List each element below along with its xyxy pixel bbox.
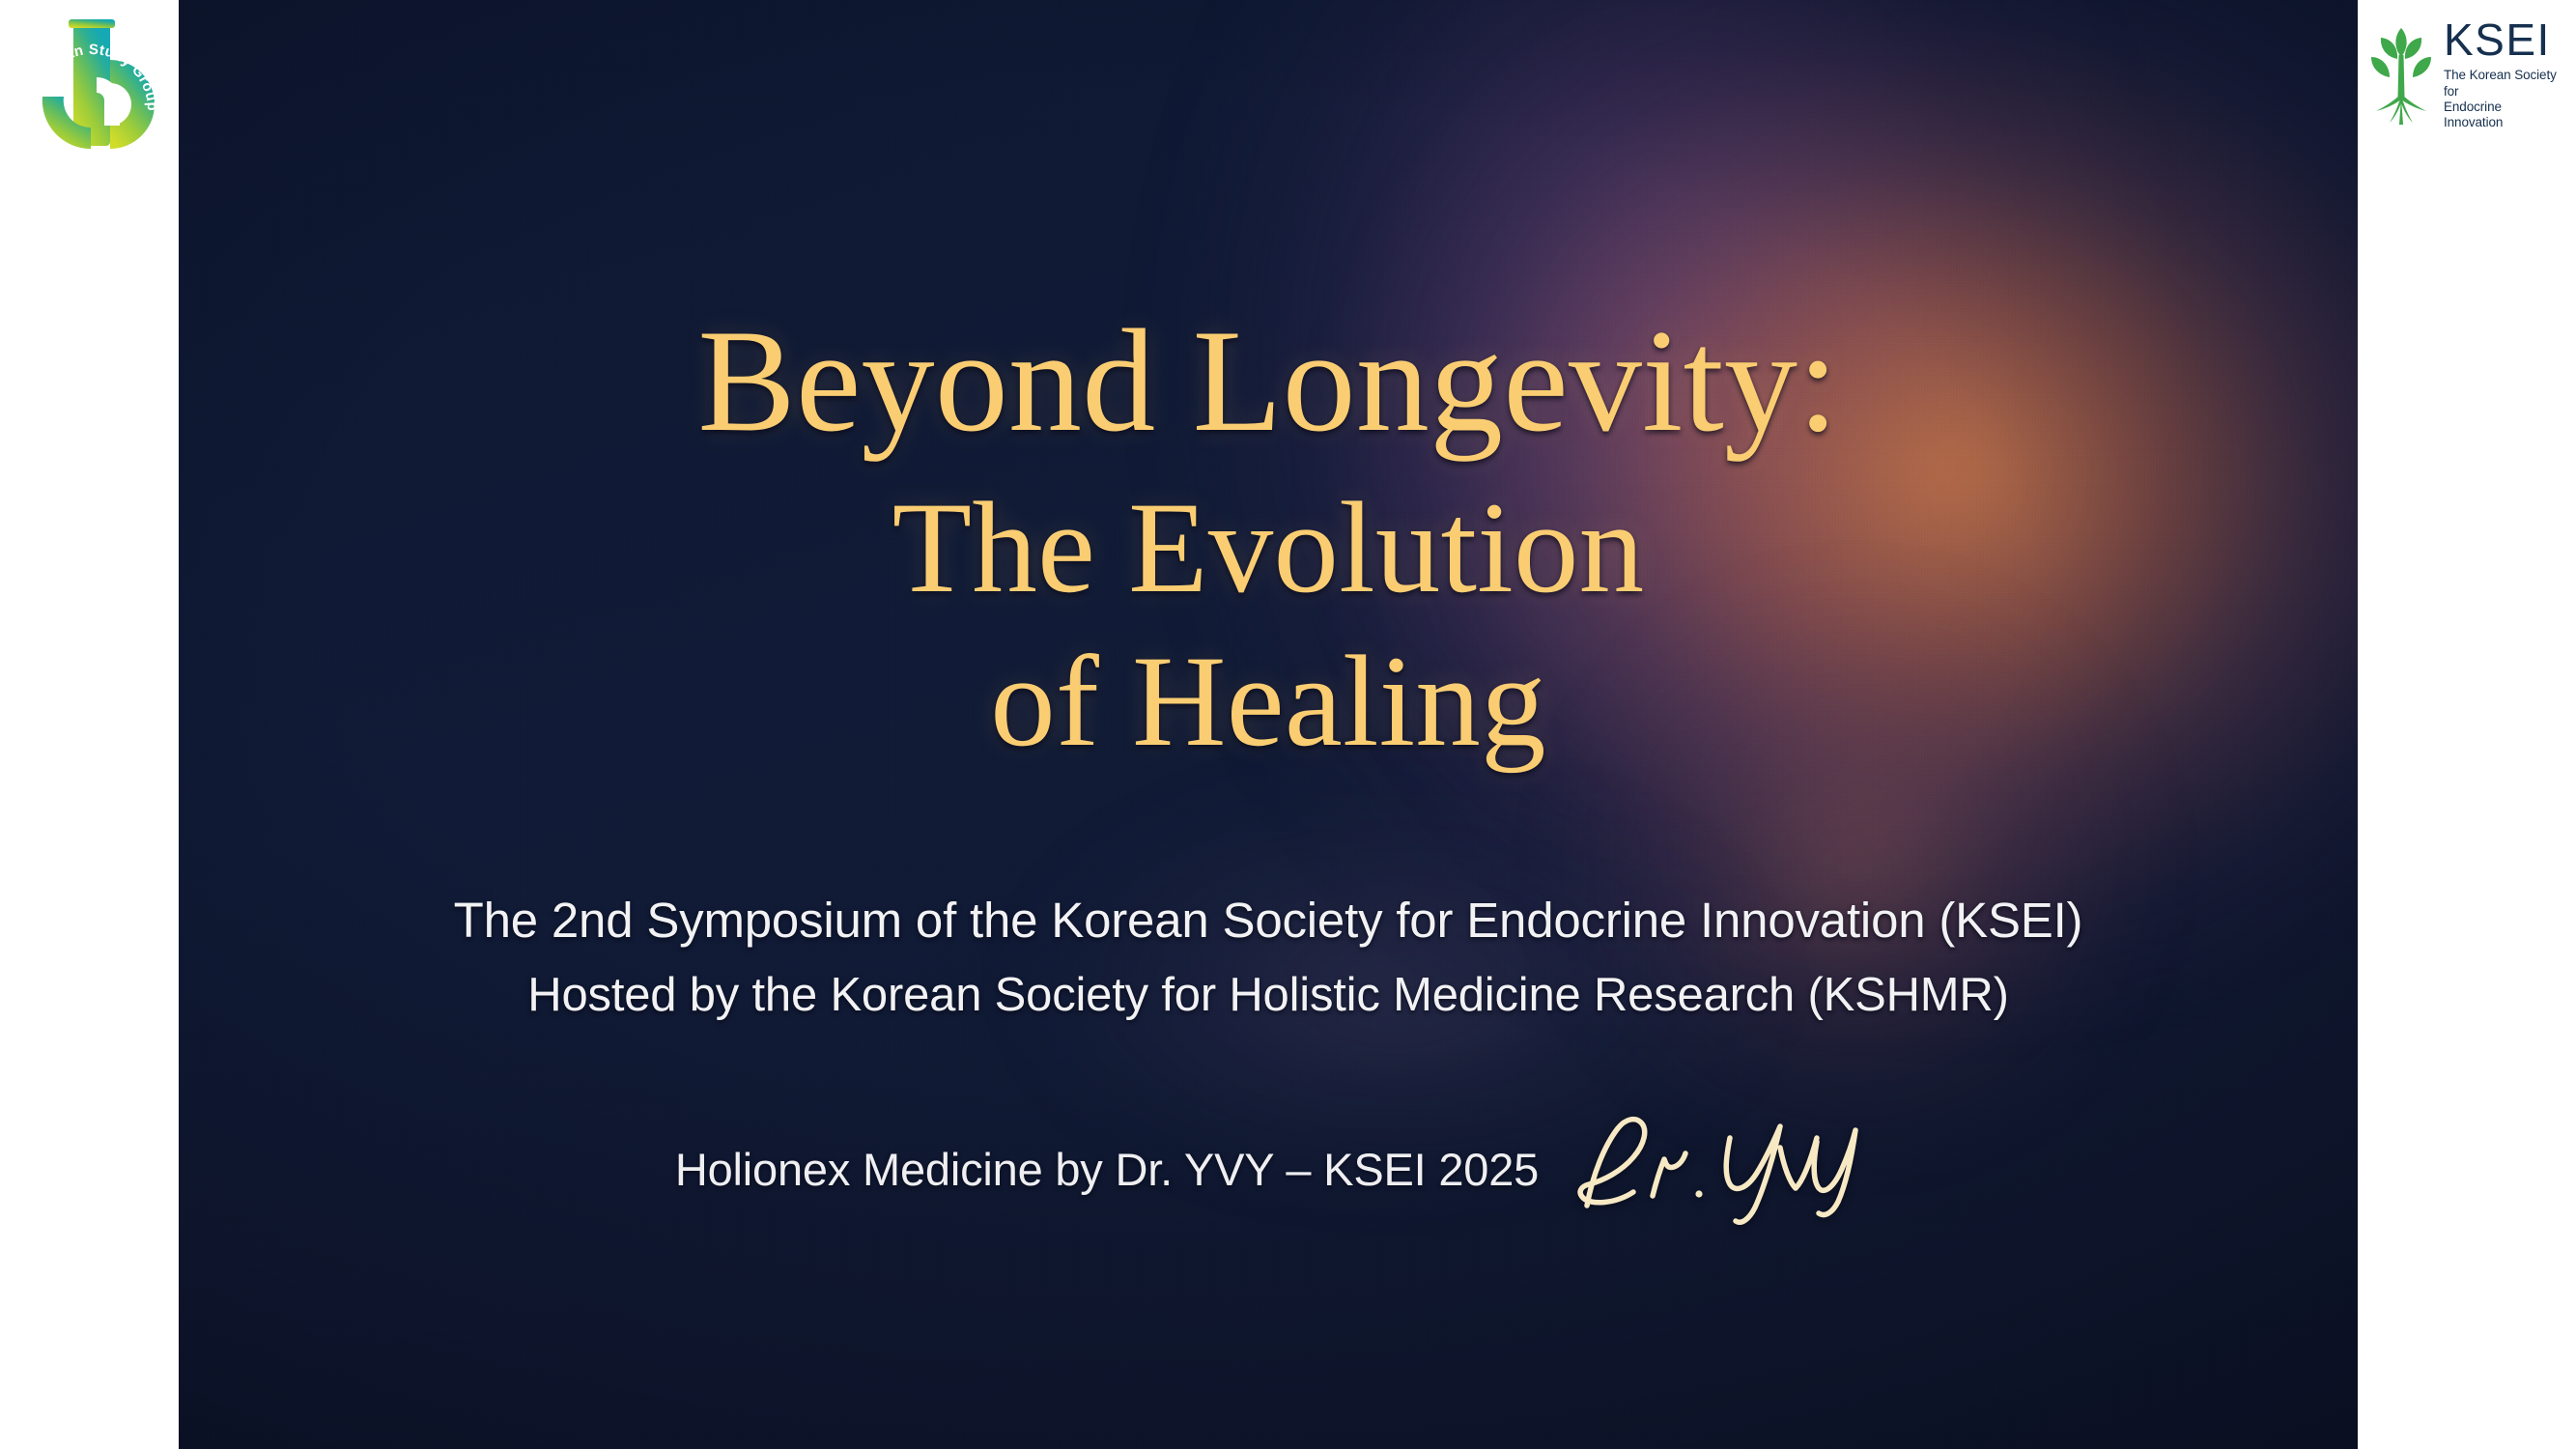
subtitle-block: The 2nd Symposium of the Korean Society … [179, 889, 2358, 1026]
title-line-3: of Healing [179, 637, 2358, 767]
signature-dr-yvy [1571, 1103, 1861, 1229]
ksei-tree-icon [2368, 22, 2434, 127]
ksei-tagline-line1: The Korean Society for [2444, 68, 2562, 99]
footer-row: Holionex Medicine by Dr. YVY – KSEI 2025 [179, 1109, 2358, 1229]
ksei-logo: KSEI The Korean Society for Endocrine In… [2368, 17, 2562, 131]
subtitle-line-host: Hosted by the Korean Society for Holisti… [179, 965, 2358, 1026]
subtitle-line-symposium: The 2nd Symposium of the Korean Society … [179, 889, 2358, 952]
slide-content: Beyond Longevity: The Evolution of Heali… [179, 0, 2358, 1449]
title-block: Beyond Longevity: The Evolution of Heali… [179, 307, 2358, 767]
kshmr-logo: Korean Study Group of Holistic Medicine [14, 2, 170, 187]
title-line-2: The Evolution [179, 483, 2358, 613]
footer-caption: Holionex Medicine by Dr. YVY – KSEI 2025 [675, 1143, 1539, 1196]
title-slide: Beyond Longevity: The Evolution of Heali… [179, 0, 2358, 1449]
ksei-tagline: The Korean Society for Endocrine Innovat… [2444, 68, 2562, 131]
title-line-1: Beyond Longevity: [179, 307, 2358, 454]
ksei-wordmark: KSEI [2444, 17, 2562, 62]
ksei-wordmark-block: KSEI The Korean Society for Endocrine In… [2444, 17, 2562, 131]
slide-canvas: Beyond Longevity: The Evolution of Heali… [0, 0, 2576, 1449]
ksei-tagline-line2: Endocrine Innovation [2444, 99, 2562, 131]
